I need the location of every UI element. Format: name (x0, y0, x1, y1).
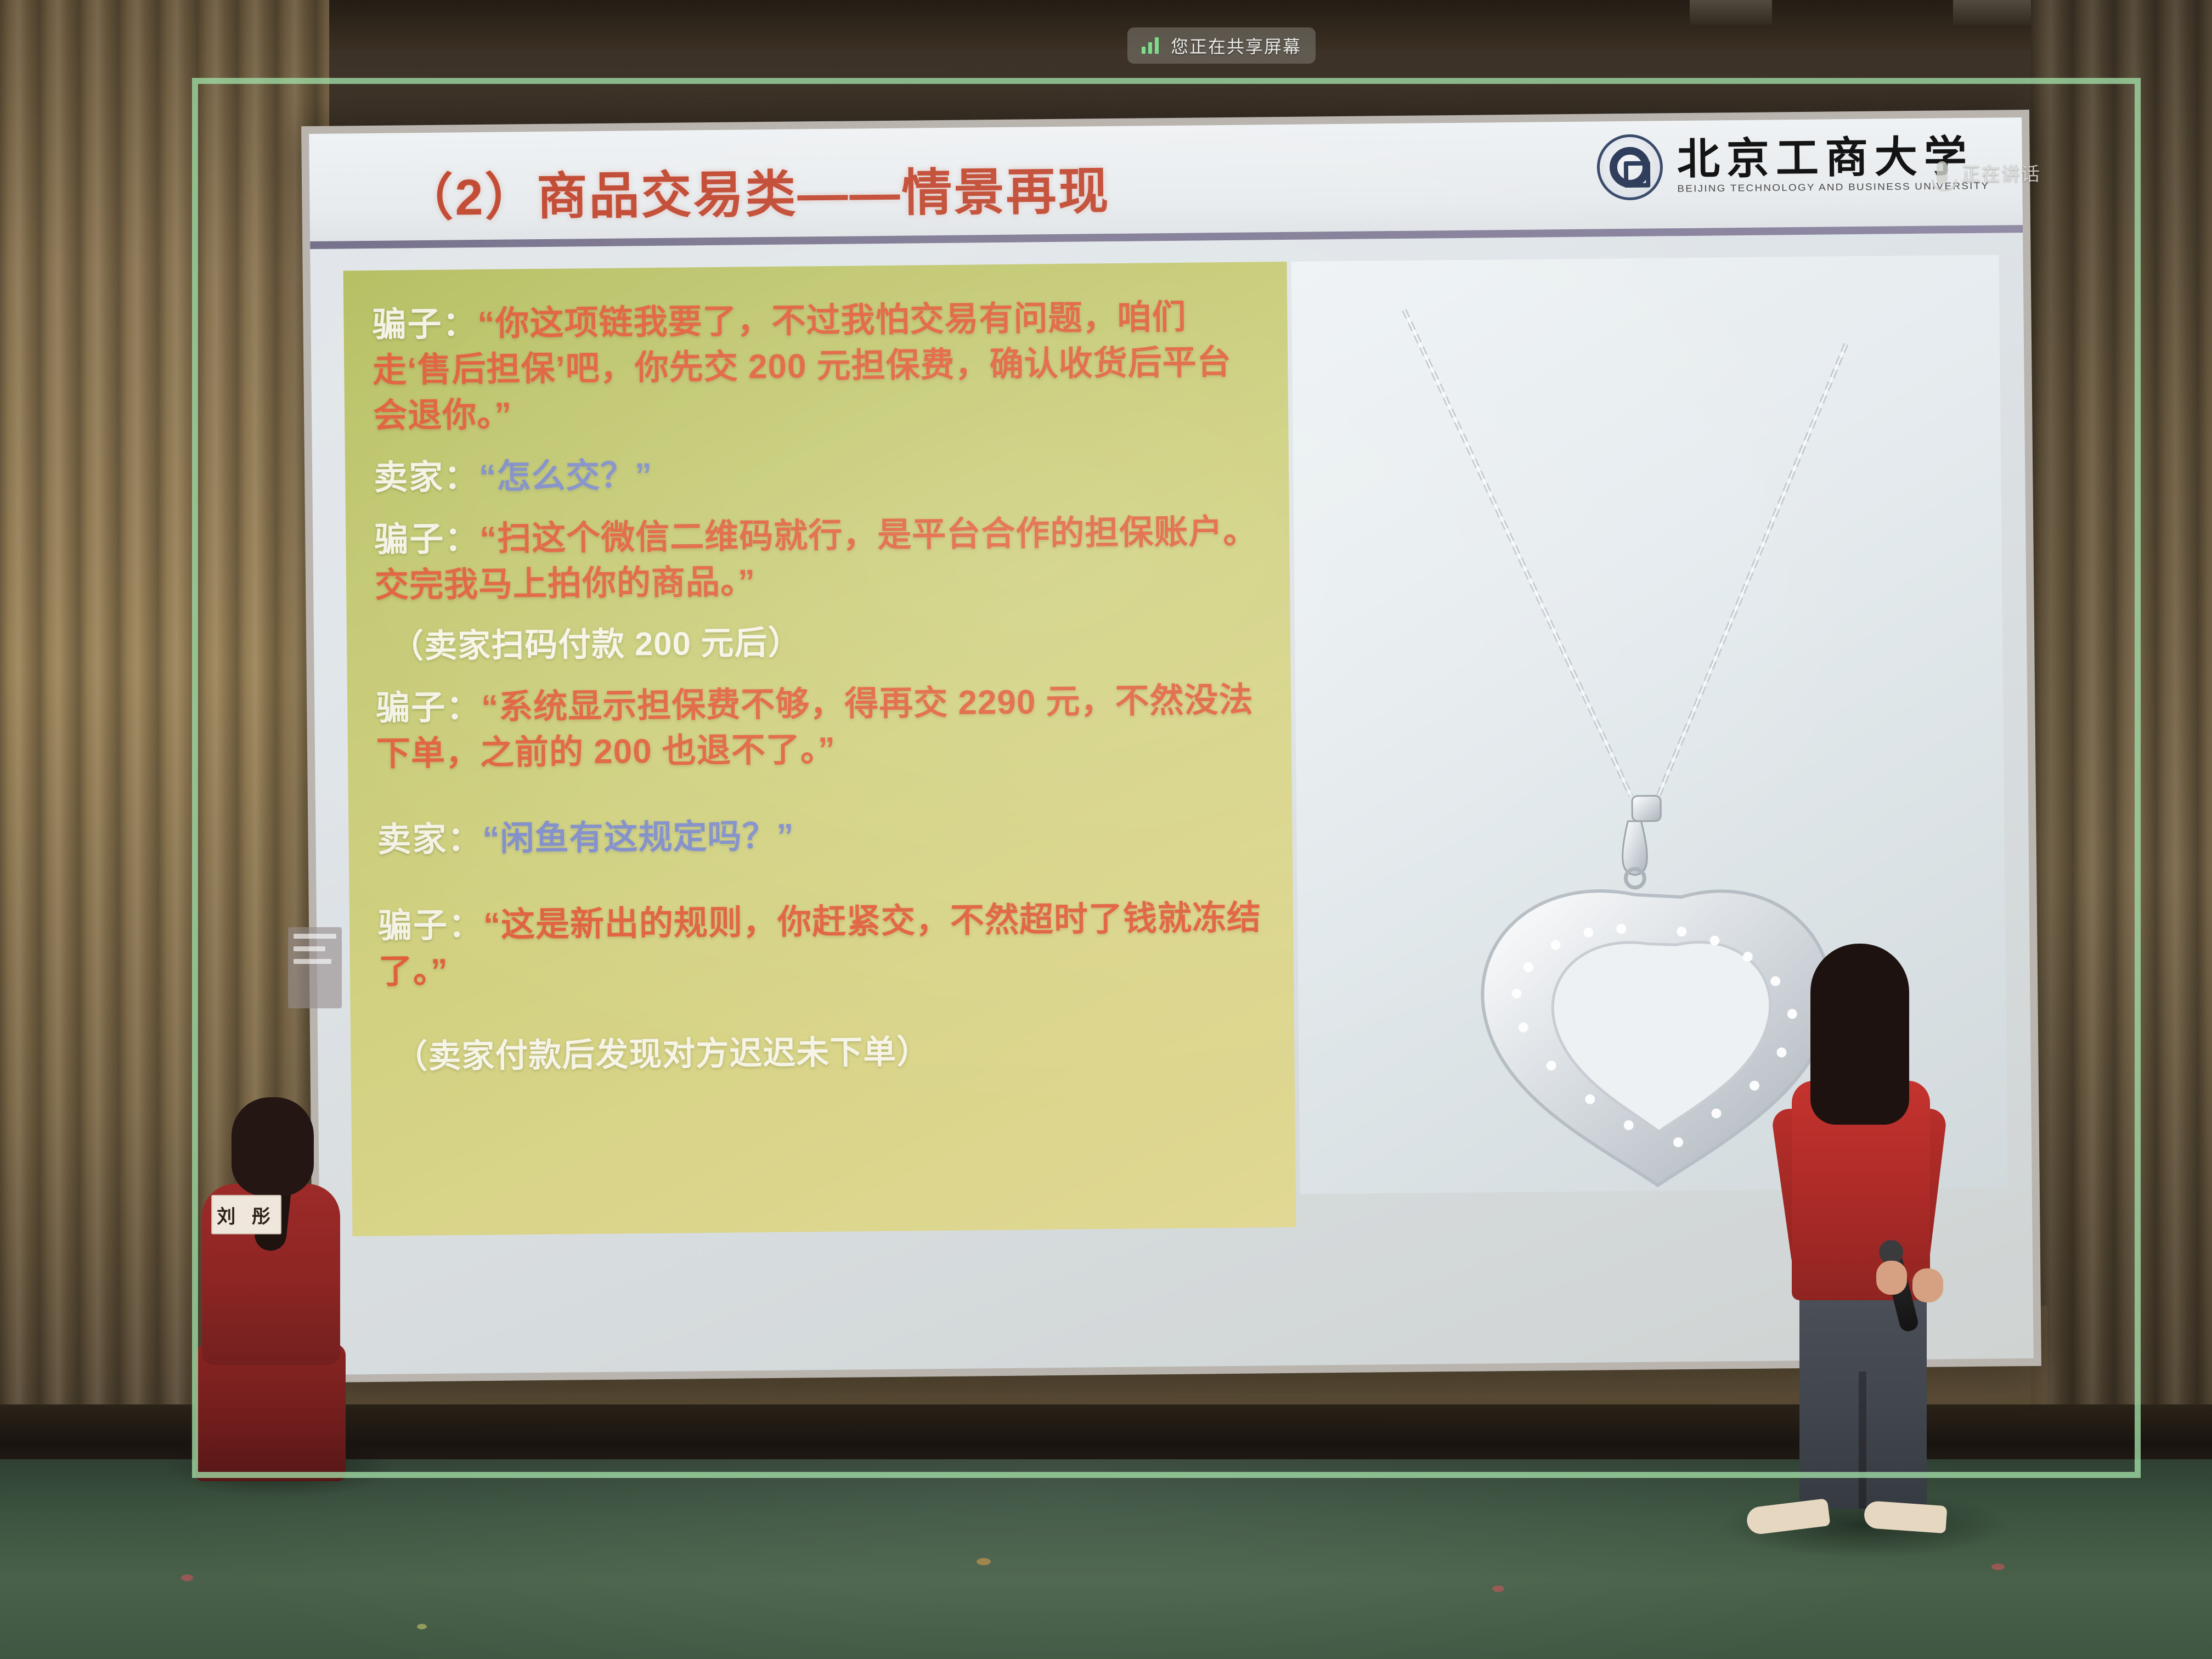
floor-speck (417, 1624, 427, 1629)
speaker-label: 卖家： (374, 458, 479, 497)
name-tag: 刘 彤 (211, 1195, 281, 1234)
hand (1912, 1268, 1943, 1302)
dialogue-line: 骗子：“这是新出的规则，你赶紧交，不然超时了钱就冻结了。” (378, 895, 1263, 995)
floor-speck (977, 1558, 991, 1565)
stage-direction: （卖家扫码付款 200 元后） (375, 624, 802, 665)
speaking-indicator[interactable]: 正在讲话 (1937, 159, 2041, 186)
dialogue-line: 骗子：“扫这个微信二维码就行，是平台合作的担保账户。交完我马上拍你的商品。” (374, 509, 1260, 609)
popup-row (294, 959, 331, 964)
seated-student: 刘 彤 (181, 1097, 362, 1481)
slide-header: （2）商品交易类——情景再现 北京工商大学 BEIJING TECHNOLOGY… (309, 117, 2023, 244)
dialogue-line: 骗子：“你这项链我要了，不过我怕交易有问题，咱们走‘售后担保’吧，你先交 200… (372, 294, 1257, 439)
speaking-label: 正在讲话 (1962, 159, 2041, 186)
stage-direction-line: （卖家付款后发现对方迟迟未下单） (379, 1027, 1264, 1080)
ceiling-vent (1690, 0, 1772, 25)
screen-share-label: 您正在共享屏幕 (1171, 33, 1301, 58)
page-title: （2）商品交易类——情景再现 (403, 150, 1110, 230)
university-seal-icon (1596, 134, 1663, 200)
speaker-label: 骗子： (376, 689, 482, 727)
dialogue-text: “怎么交？” (479, 456, 653, 496)
popup-row (294, 934, 336, 939)
stage-direction-line: （卖家扫码付款 200 元后） (375, 617, 1260, 669)
speaker-label: 卖家： (377, 820, 483, 859)
dialogue-text: “系统显示担保费不够，得再交 2290 元，不然没法下单，之前的 200 也退不… (376, 681, 1254, 772)
name-tag-text: 刘 彤 (217, 1201, 275, 1228)
dialogue-text: “这是新出的规则，你赶紧交，不然超时了钱就冻结了。” (379, 899, 1262, 991)
signal-bars-icon (1142, 37, 1159, 54)
floor-speck (181, 1575, 193, 1581)
university-logo: 北京工商大学 BEIJING TECHNOLOGY AND BUSINESS U… (1596, 131, 1989, 201)
standing-presenter (1739, 944, 1970, 1558)
speaker-label: 骗子： (378, 906, 484, 945)
screen-share-banner[interactable]: 您正在共享屏幕 (1127, 27, 1316, 64)
ceiling (0, 0, 2212, 49)
dialogue-line: 卖家：“闲鱼有这规定吗？” (377, 809, 1262, 863)
dialogue-line: 骗子：“系统显示担保费不够，得再交 2290 元，不然没法下单，之前的 200 … (376, 677, 1261, 777)
dialogue-line: 卖家：“怎么交？” (374, 447, 1259, 501)
hair (232, 1097, 314, 1196)
microphone-icon (1937, 161, 1948, 184)
dialogue-text: “闲鱼有这规定吗？” (482, 817, 794, 858)
floor-speck (1492, 1585, 1504, 1592)
hair (1810, 944, 1909, 1125)
dialogue-text: “扫这个微信二维码就行，是平台合作的担保账户。交完我马上拍你的商品。” (375, 513, 1258, 605)
speaker-label: 骗子： (372, 305, 478, 344)
stage-direction: （卖家付款后发现对方迟迟未下单） (379, 1033, 930, 1075)
floor-speck (1991, 1564, 2005, 1570)
shoe (1863, 1500, 1947, 1533)
speaker-label: 骗子： (374, 520, 480, 559)
stage-curtain-right (2031, 0, 2212, 1448)
popup-row (294, 946, 325, 951)
shoe (1746, 1498, 1831, 1536)
hand (1876, 1261, 1907, 1295)
dialogue-text: “你这项链我要了，不过我怕交易有问题，咱们走‘售后担保’吧，你先交 200 元担… (373, 298, 1232, 435)
left-edge-popup[interactable] (288, 927, 342, 1008)
dialogue-panel: 骗子：“你这项链我要了，不过我怕交易有问题，咱们走‘售后担保’吧，你先交 200… (343, 262, 1296, 1236)
auditorium-screenshot: （2）商品交易类——情景再现 北京工商大学 BEIJING TECHNOLOGY… (0, 0, 2212, 1659)
